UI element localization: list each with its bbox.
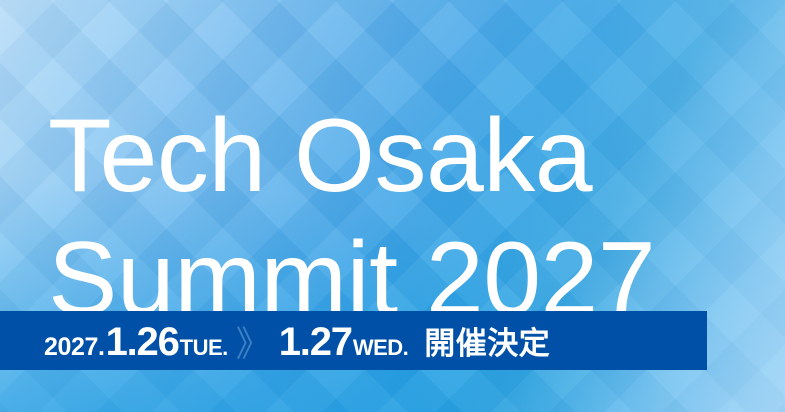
event-end-date: 1.27 <box>279 320 352 365</box>
event-status-label: 開催決定 <box>424 318 550 363</box>
event-start-date: 1.26 <box>106 320 179 365</box>
event-key-visual-banner: Tech Osaka Summit 2027 2027. 1.26 TUE. 》… <box>0 0 785 412</box>
event-end-day-of-week: WED. <box>353 335 408 361</box>
event-date-band: 2027. 1.26 TUE. 》 1.27 WED. 開催決定 <box>0 311 707 370</box>
event-title: Tech Osaka Summit 2027 <box>48 88 655 349</box>
date-range-separator-icon: 》 <box>236 316 271 367</box>
event-year-label: 2027. <box>44 333 105 362</box>
event-date-band-content: 2027. 1.26 TUE. 》 1.27 WED. 開催決定 <box>44 315 550 366</box>
event-start-day-of-week: TUE. <box>180 335 228 361</box>
event-title-line-1: Tech Osaka <box>48 88 655 225</box>
